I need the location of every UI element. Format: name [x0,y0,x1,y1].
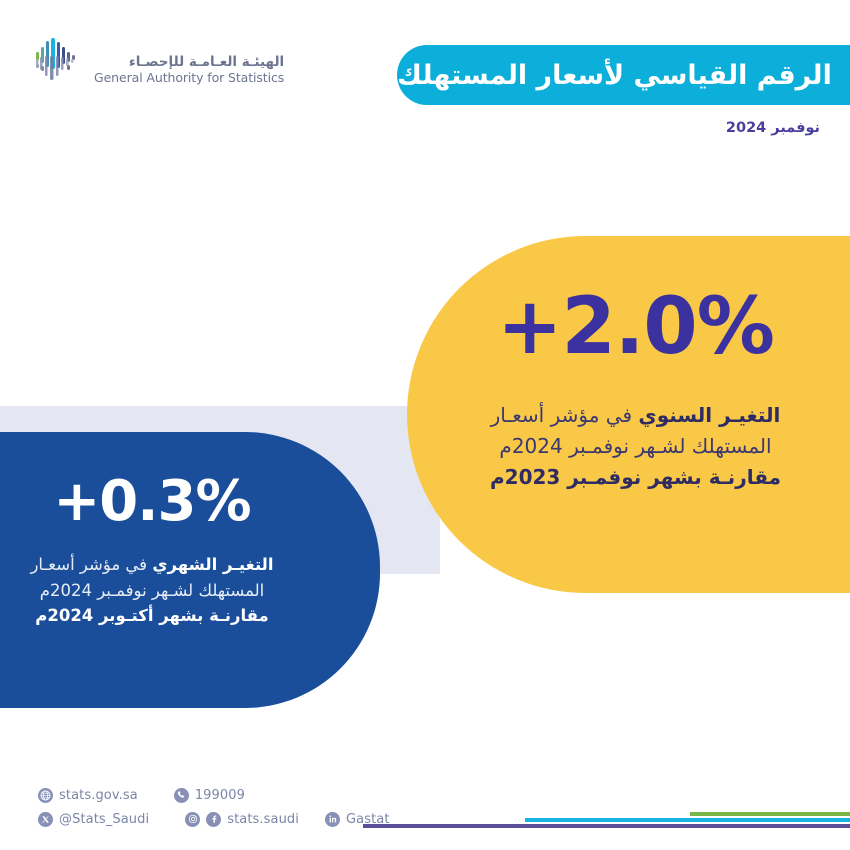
annual-change-description: التغيـر السنوي في مؤشر أسعـار المستهلك ل… [463,400,808,493]
footer-contacts: stats.gov.sa 199009 @Stats_Saudi [38,786,390,834]
gastat-bars-logo-icon [30,38,86,102]
facebook-label: stats.saudi [227,812,299,827]
phone-contact[interactable]: 199009 [174,788,245,803]
monthly-desc-rest: في مؤشر أسعـار [30,555,152,574]
logo-arabic-text: الهيئـة العـامـة للإحصـاء [129,55,284,70]
decor-rule-green [690,812,850,816]
monthly-change-description: التغيـر الشهري في مؤشر أسعـار المستهلك ل… [0,552,310,629]
website-contact[interactable]: stats.gov.sa [38,788,138,803]
monthly-change-card: +0.3% التغيـر الشهري في مؤشر أسعـار المس… [0,432,380,708]
annual-desc-rest: في مؤشر أسعـار [491,403,639,427]
annual-change-card: +2.0% التغيـر السنوي في مؤشر أسعـار المس… [407,236,850,593]
monthly-desc-line2: المستهلك لشـهر نوفمـبر 2024م [40,581,265,600]
annual-change-value: +2.0% [463,288,808,366]
annual-desc-lead: التغيـر السنوي [638,403,780,427]
phone-label: 199009 [195,788,245,803]
gastat-logo: الهيئـة العـامـة للإحصـاء General Author… [30,38,284,102]
report-date: نوفمبر 2024 [726,120,820,136]
page-title: الرقم القياسي لأسعار المستهلك [397,60,832,91]
facebook-icon[interactable] [206,812,221,827]
social-handles[interactable]: stats.saudi [185,812,299,827]
monthly-desc-lead: التغيـر الشهري [152,555,273,574]
globe-icon [38,788,53,803]
footer-row-1: stats.gov.sa 199009 [38,786,390,804]
decor-rule-cyan [525,818,850,822]
annual-desc-line3: مقارنـة بشهر نوفمـبر 2023م [490,465,781,489]
decor-rule-purple [363,824,850,828]
monthly-desc-line3: مقارنـة بشهر أكتـوبر 2024م [35,606,268,625]
x-twitter-icon [38,812,53,827]
title-banner: الرقم القياسي لأسعار المستهلك [397,45,850,105]
footer-row-2: @Stats_Saudi stats.saudi Gastat [38,810,390,828]
annual-desc-line2: المستهلك لشـهر نوفمـبر 2024م [499,434,771,458]
x-label: @Stats_Saudi [59,812,149,827]
instagram-icon[interactable] [185,812,200,827]
logo-english-text: General Authority for Statistics [94,71,284,85]
x-contact[interactable]: @Stats_Saudi [38,812,149,827]
website-label: stats.gov.sa [59,788,138,803]
monthly-change-value: +0.3% [0,474,310,530]
phone-icon [174,788,189,803]
linkedin-icon [325,812,340,827]
infographic-canvas: الهيئـة العـامـة للإحصـاء General Author… [0,0,850,850]
